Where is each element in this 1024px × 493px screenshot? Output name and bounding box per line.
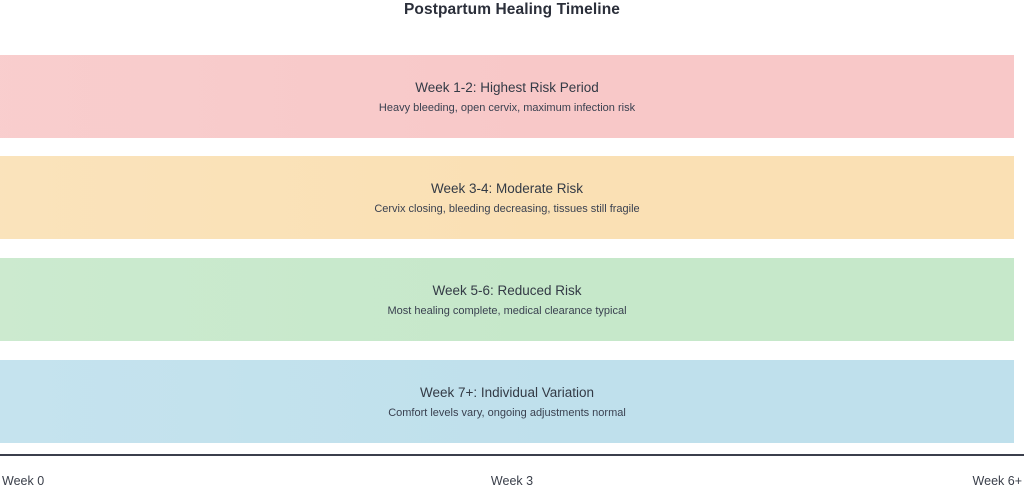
band-sublabel: Most healing complete, medical clearance… [387, 303, 626, 319]
band-label: Week 1-2: Highest Risk Period [415, 78, 599, 97]
band-label: Week 5-6: Reduced Risk [432, 281, 581, 300]
band-label: Week 3-4: Moderate Risk [431, 179, 583, 198]
band-sublabel: Comfort levels vary, ongoing adjustments… [388, 405, 626, 421]
timeline-band-week-7-plus: Week 7+: Individual Variation Comfort le… [0, 360, 1014, 443]
timeline-band-week-5-6: Week 5-6: Reduced Risk Most healing comp… [0, 258, 1014, 341]
timeline-axis-ticks: Week 0 Week 3 Week 6+ [0, 473, 1024, 493]
page-title: Postpartum Healing Timeline [0, 0, 1024, 20]
axis-tick-label-end: Week 6+ [973, 473, 1022, 489]
timeline-axis-line [0, 454, 1024, 456]
timeline-band-week-3-4: Week 3-4: Moderate Risk Cervix closing, … [0, 156, 1014, 239]
band-label: Week 7+: Individual Variation [420, 383, 594, 402]
timeline-bands: Week 1-2: Highest Risk Period Heavy blee… [0, 55, 1014, 440]
band-sublabel: Cervix closing, bleeding decreasing, tis… [374, 201, 639, 217]
axis-tick-label-middle: Week 3 [0, 473, 1024, 489]
timeline-band-week-1-2: Week 1-2: Highest Risk Period Heavy blee… [0, 55, 1014, 138]
postpartum-healing-timeline-chart: Postpartum Healing Timeline Week 1-2: Hi… [0, 0, 1024, 493]
band-sublabel: Heavy bleeding, open cervix, maximum inf… [379, 100, 635, 116]
